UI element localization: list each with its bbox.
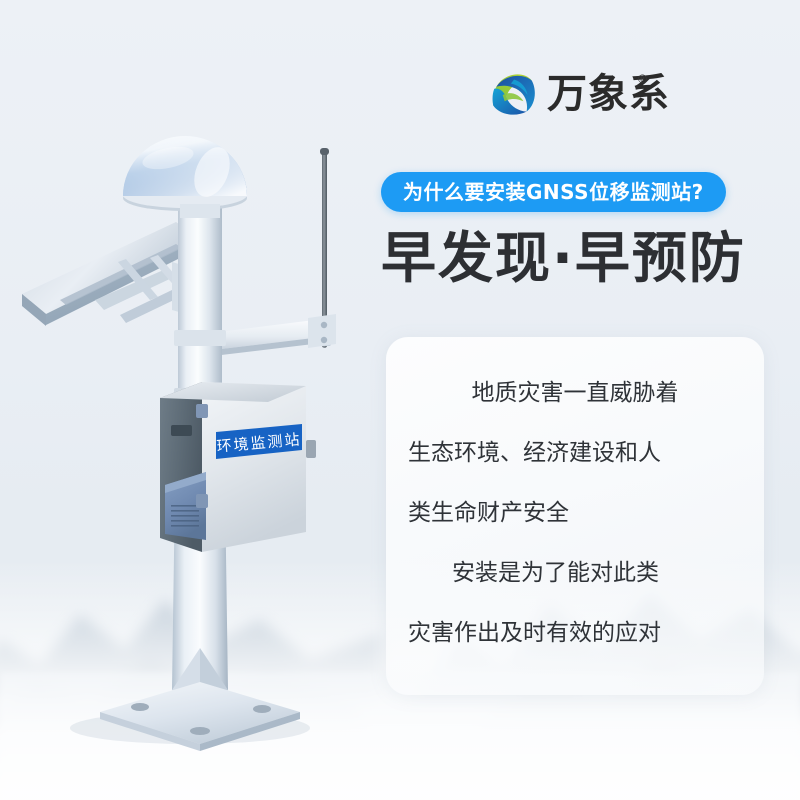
equipment-cabinet: 环境监测站 bbox=[160, 382, 316, 552]
page-title: 早发现·早预防 bbox=[381, 228, 781, 290]
description-line: 类生命财产安全 bbox=[404, 483, 746, 543]
solar-panel bbox=[22, 222, 200, 326]
question-banner-label: 为什么要安装GNSS位移监测站? bbox=[403, 182, 704, 202]
globe-swirl-icon bbox=[487, 68, 539, 120]
gnss-dome-antenna bbox=[123, 136, 247, 218]
registered-trademark-icon: ® bbox=[638, 72, 647, 86]
brand-name: 万象系 bbox=[547, 74, 670, 114]
description-line: 地质灾害一直威胁着 bbox=[404, 363, 746, 423]
question-banner: 为什么要安装GNSS位移监测站? bbox=[381, 172, 726, 212]
brand-logo: 万象系 bbox=[487, 63, 657, 125]
description-card: 地质灾害一直威胁着 生态环境、经济建设和人 类生命财产安全 安装是为了能对此类 … bbox=[386, 337, 764, 695]
poster-root: 环境监测站 bbox=[0, 0, 800, 800]
description-line: 安装是为了能对此类 bbox=[404, 543, 746, 603]
description-line: 生态环境、经济建设和人 bbox=[404, 423, 746, 483]
description-line: 灾害作出及时有效的应对 bbox=[404, 603, 746, 663]
